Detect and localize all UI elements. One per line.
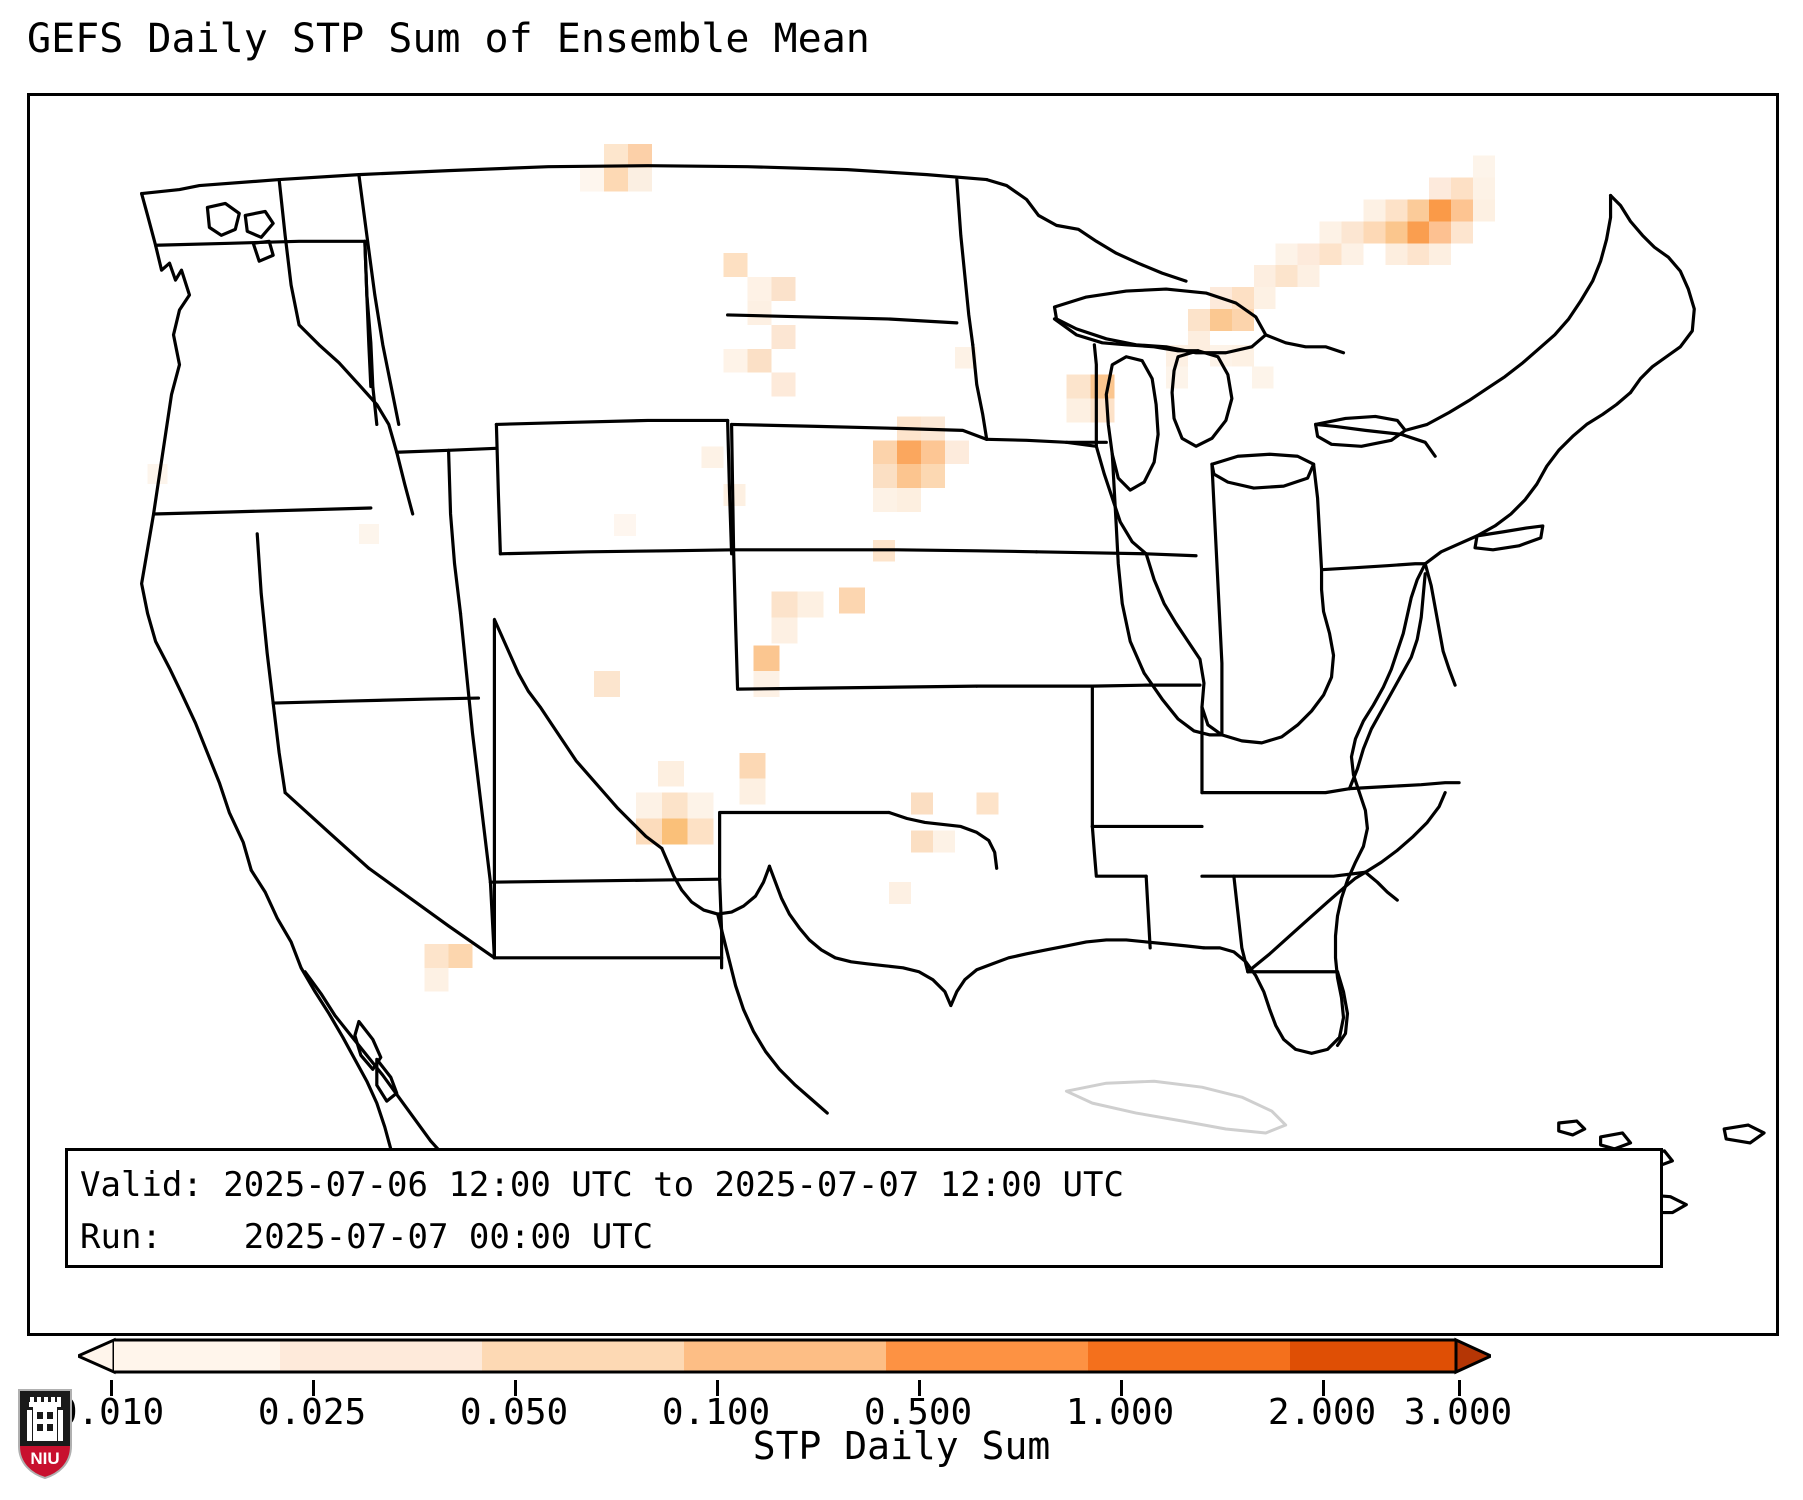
run-time-line: Run: 2025-07-07 00:00 UTC — [80, 1211, 1648, 1263]
forecast-info-box: Valid: 2025-07-06 12:00 UTC to 2025-07-0… — [65, 1148, 1663, 1268]
niu-logo: NIU — [16, 1388, 74, 1480]
page-title: GEFS Daily STP Sum of Ensemble Mean — [27, 16, 870, 62]
niu-logo-text: NIU — [30, 1449, 59, 1468]
map-panel[interactable]: Valid: 2025-07-06 12:00 UTC to 2025-07-0… — [27, 93, 1779, 1336]
valid-time-line: Valid: 2025-07-06 12:00 UTC to 2025-07-0… — [80, 1159, 1648, 1211]
colorbar-axis-title: STP Daily Sum — [0, 1424, 1803, 1468]
colorbar-gradient — [78, 1336, 1491, 1376]
colorbar[interactable]: 0.010 0.025 0.050 0.100 0.500 1.000 2.00… — [0, 1336, 1803, 1406]
